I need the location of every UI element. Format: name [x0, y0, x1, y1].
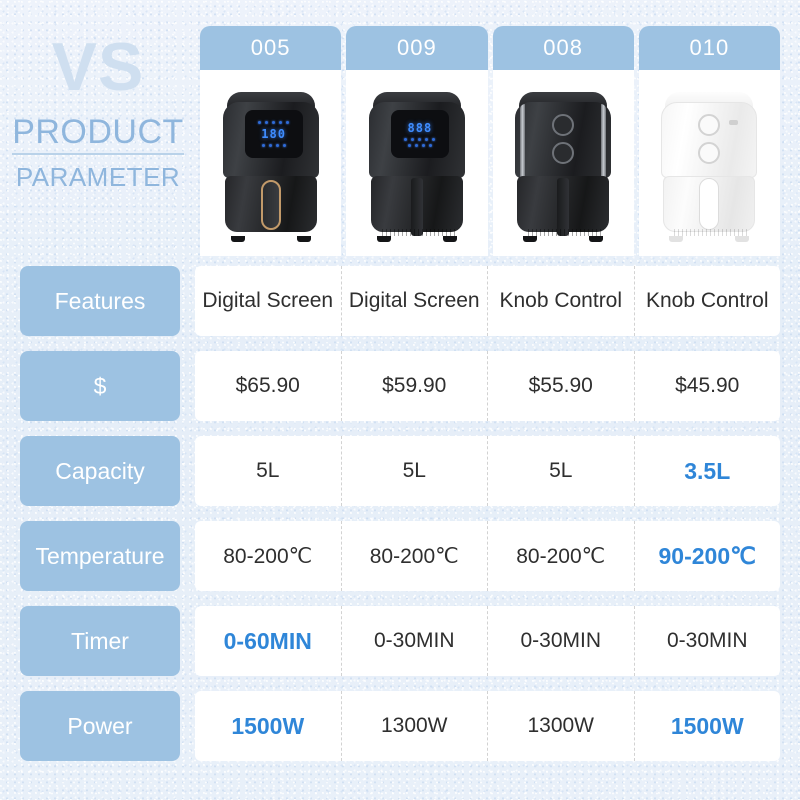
table-cell: Digital Screen	[195, 266, 342, 336]
table-row: Features Digital Screen Digital Screen K…	[20, 266, 780, 336]
product-tab-label: 009	[346, 26, 487, 70]
product-card-010[interactable]: 010	[639, 26, 780, 256]
panel-readout: 888	[408, 121, 433, 135]
table-row: Capacity 5L 5L 5L 3.5L	[20, 436, 780, 506]
table-cell: 80-200℃	[342, 521, 489, 591]
fryer-handle	[557, 178, 569, 236]
air-fryer-icon	[657, 88, 761, 238]
table-cell: $45.90	[635, 351, 781, 421]
fryer-foot	[297, 236, 311, 242]
panel-dot	[425, 138, 428, 141]
table-cell: 5L	[342, 436, 489, 506]
panel-dot	[283, 144, 286, 147]
table-cell: 1300W	[342, 691, 489, 761]
product-tab-label: 008	[493, 26, 634, 70]
product-tab-label: 005	[200, 26, 341, 70]
table-cell: 5L	[195, 436, 342, 506]
fryer-vents	[379, 229, 455, 236]
table-cell: $59.90	[342, 351, 489, 421]
panel-dot	[279, 121, 282, 124]
fryer-foot	[443, 236, 457, 242]
fryer-vents	[671, 229, 747, 236]
digital-panel-icon: 888	[391, 110, 449, 158]
panel-dot	[418, 138, 421, 141]
indicator-light-icon	[729, 120, 738, 125]
panel-dot-row	[262, 144, 286, 147]
fryer-handle	[261, 180, 281, 230]
fryer-handle	[699, 178, 719, 230]
table-cell: 80-200℃	[488, 521, 635, 591]
row-values: 1500W 1300W 1300W 1500W	[195, 691, 780, 761]
digital-panel-icon: 180	[245, 110, 303, 158]
row-values: $65.90 $59.90 $55.90 $45.90	[195, 351, 780, 421]
air-fryer-icon: 180	[219, 88, 323, 238]
table-cell: 1500W	[635, 691, 781, 761]
panel-dot	[269, 144, 272, 147]
table-cell: 1300W	[488, 691, 635, 761]
table-cell: $65.90	[195, 351, 342, 421]
panel-dot	[404, 138, 407, 141]
table-cell: 0-60MIN	[195, 606, 342, 676]
table-cell: 0-30MIN	[342, 606, 489, 676]
row-values: Digital Screen Digital Screen Knob Contr…	[195, 266, 780, 336]
row-label-temperature: Temperature	[20, 521, 180, 591]
product-photo-010	[639, 70, 780, 256]
product-photo-005: 180	[200, 70, 341, 256]
parameter-heading: PARAMETER	[0, 162, 196, 193]
row-label-price: $	[20, 351, 180, 421]
table-cell: Knob Control	[488, 266, 635, 336]
product-photo-009: 888	[346, 70, 487, 256]
panel-readout: 180	[261, 127, 286, 141]
product-card-008[interactable]: 008	[493, 26, 634, 256]
table-cell: 90-200℃	[635, 521, 781, 591]
table-row: Power 1500W 1300W 1300W 1500W	[20, 691, 780, 761]
table-cell: Digital Screen	[342, 266, 489, 336]
panel-dot	[286, 121, 289, 124]
table-cell: 80-200℃	[195, 521, 342, 591]
row-label-power: Power	[20, 691, 180, 761]
table-row: Temperature 80-200℃ 80-200℃ 80-200℃ 90-2…	[20, 521, 780, 591]
table-cell: $55.90	[488, 351, 635, 421]
table-cell: Knob Control	[635, 266, 781, 336]
product-card-005[interactable]: 005 180	[200, 26, 341, 256]
power-dot	[408, 144, 411, 147]
table-cell: 1500W	[195, 691, 342, 761]
table-cell: 0-30MIN	[635, 606, 781, 676]
table-row: Timer 0-60MIN 0-30MIN 0-30MIN 0-30MIN	[20, 606, 780, 676]
timer-knob-icon	[552, 142, 574, 164]
row-label-features: Features	[20, 266, 180, 336]
panel-dot	[265, 121, 268, 124]
panel-dot	[432, 138, 435, 141]
fryer-foot	[377, 236, 391, 242]
panel-dot	[415, 144, 418, 147]
panel-dot-row	[258, 121, 289, 124]
row-values: 5L 5L 5L 3.5L	[195, 436, 780, 506]
panel-dot	[272, 121, 275, 124]
panel-dot-row	[404, 138, 435, 141]
panel-dot	[422, 144, 425, 147]
product-tab-label: 010	[639, 26, 780, 70]
fryer-foot	[523, 236, 537, 242]
vs-watermark: VS	[0, 34, 196, 101]
spec-comparison-table: Features Digital Screen Digital Screen K…	[20, 266, 780, 776]
product-photo-008	[493, 70, 634, 256]
product-heading-wrap: PRODUCT	[0, 115, 196, 156]
fryer-foot	[589, 236, 603, 242]
fryer-vents	[525, 229, 601, 236]
table-row: $ $65.90 $59.90 $55.90 $45.90	[20, 351, 780, 421]
comparison-page: VS PRODUCT PARAMETER 005	[0, 0, 800, 800]
fryer-foot	[669, 236, 683, 242]
product-card-list: 005 180	[200, 26, 780, 256]
table-cell: 0-30MIN	[488, 606, 635, 676]
product-heading: PRODUCT	[12, 115, 184, 156]
air-fryer-icon	[511, 88, 615, 238]
fryer-handle	[411, 178, 423, 236]
table-cell: 3.5L	[635, 436, 781, 506]
fryer-foot	[735, 236, 749, 242]
panel-dot	[276, 144, 279, 147]
row-label-capacity: Capacity	[20, 436, 180, 506]
panel-dot	[429, 144, 432, 147]
temperature-knob-icon	[552, 114, 574, 136]
row-values: 80-200℃ 80-200℃ 80-200℃ 90-200℃	[195, 521, 780, 591]
panel-dot	[258, 121, 261, 124]
fryer-foot	[231, 236, 245, 242]
row-label-timer: Timer	[20, 606, 180, 676]
product-card-009[interactable]: 009 888	[346, 26, 487, 256]
panel-dot	[262, 144, 265, 147]
panel-dot-row	[408, 144, 432, 147]
air-fryer-icon: 888	[365, 88, 469, 238]
panel-dot	[411, 138, 414, 141]
table-cell: 5L	[488, 436, 635, 506]
brand-block: VS PRODUCT PARAMETER	[0, 34, 196, 193]
row-values: 0-60MIN 0-30MIN 0-30MIN 0-30MIN	[195, 606, 780, 676]
